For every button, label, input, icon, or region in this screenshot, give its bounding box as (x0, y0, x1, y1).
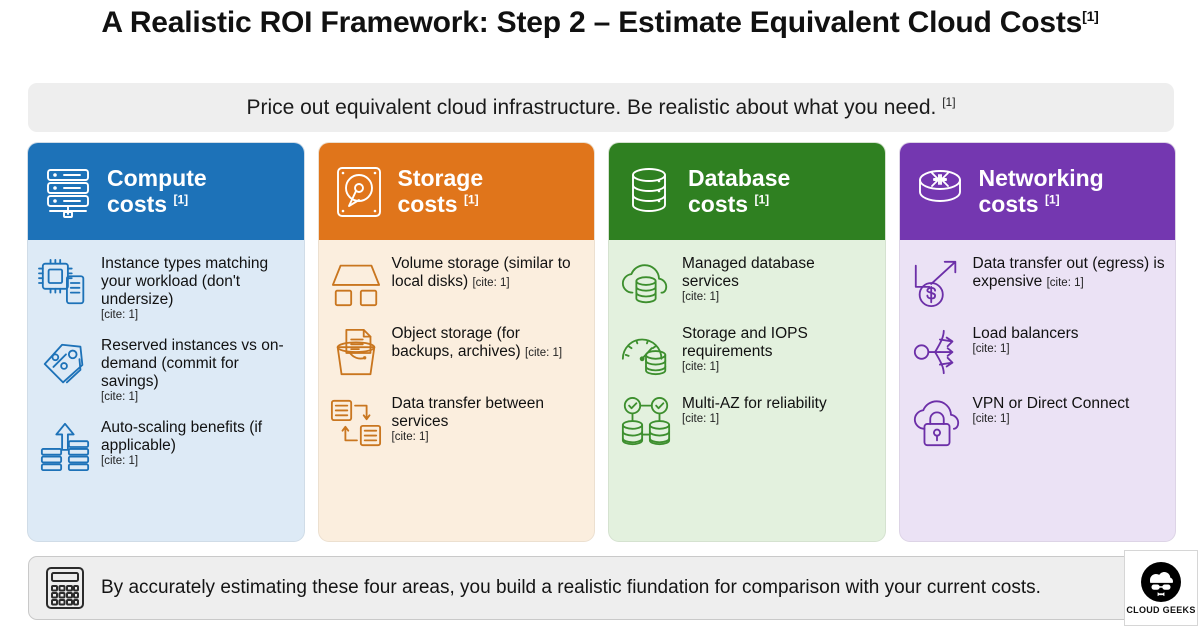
cost-item-citation: [cite: 1] (1047, 277, 1084, 289)
egress-cost-icon (910, 256, 964, 310)
cost-item-label: Managed database services (682, 255, 815, 290)
cost-card-title-line1: Compute (107, 165, 207, 191)
cost-item-label: Auto-scaling benefits (if applicable) (101, 419, 262, 454)
data-transfer-icon (329, 396, 383, 450)
cost-item[interactable]: Data transfer between services[cite: 1] (329, 394, 585, 450)
cloud-geeks-mark-icon (1140, 561, 1182, 603)
object-bucket-icon (329, 326, 383, 380)
cost-card-title-storage: Storagecosts [1] (398, 166, 484, 218)
server-rack-icon (40, 164, 96, 220)
cost-item-text: Auto-scaling benefits (if applicable)[ci… (101, 418, 294, 468)
cost-item-citation: [cite: 1] (682, 361, 875, 374)
cost-item-citation: [cite: 1] (525, 347, 562, 359)
managed-database-cloud-icon (619, 256, 673, 310)
page-title: A Realistic ROI Framework: Step 2 – Esti… (0, 6, 1200, 40)
subtitle-citation: [1] (942, 95, 955, 109)
cost-item-citation: [cite: 1] (101, 455, 294, 468)
cost-item-text: VPN or Direct Connect[cite: 1] (973, 394, 1130, 426)
cost-item-text: Reserved instances vs on-demand (commit … (101, 336, 294, 404)
cost-card-title-database: Databasecosts [1] (688, 166, 790, 218)
database-cylinder-icon (621, 164, 677, 220)
cost-card-title-compute: Computecosts [1] (107, 166, 207, 218)
cost-item-label: Load balancers (973, 325, 1079, 342)
cost-card-title-citation: [1] (173, 192, 188, 206)
cost-card-header-compute: Computecosts [1] (28, 143, 304, 240)
auto-scaling-icon (38, 420, 92, 474)
cpu-chip-icon (38, 256, 92, 310)
cost-item-text: Instance types matching your workload (d… (101, 254, 294, 322)
cost-item[interactable]: Object storage (for backups, archives) [… (329, 324, 585, 380)
cost-card-body-storage: Volume storage (similar to local disks) … (319, 240, 595, 541)
cost-item[interactable]: Load balancers[cite: 1] (910, 324, 1166, 380)
cost-item[interactable]: Managed database services[cite: 1] (619, 254, 875, 310)
subtitle-text: Price out equivalent cloud infrastructur… (246, 95, 955, 120)
cost-item-text: Data transfer out (egress) is expensive … (973, 254, 1166, 291)
cost-item-label: Storage and IOPS requirements (682, 325, 808, 360)
cost-card-storage[interactable]: Storagecosts [1]Volume storage (similar … (318, 142, 596, 542)
cost-card-title-line1: Database (688, 165, 790, 191)
cost-card-title-line1: Storage (398, 165, 484, 191)
discount-tag-icon (38, 338, 92, 392)
cost-card-header-storage: Storagecosts [1] (319, 143, 595, 240)
cloud-geeks-logo-label: CLOUD GEEKS (1126, 605, 1195, 615)
cost-item[interactable]: Instance types matching your workload (d… (38, 254, 294, 322)
calculator-icon (43, 565, 87, 611)
cost-card-title-line2: costs (398, 191, 458, 217)
cost-card-body-networking: Data transfer out (egress) is expensive … (900, 240, 1176, 541)
cost-item-citation: [cite: 1] (973, 343, 1079, 356)
cost-card-title-citation: [1] (464, 192, 479, 206)
cost-card-title-networking: Networkingcosts [1] (979, 166, 1104, 218)
cost-item[interactable]: Volume storage (similar to local disks) … (329, 254, 585, 310)
cost-item-text: Load balancers[cite: 1] (973, 324, 1079, 356)
cost-item[interactable]: Multi-AZ for reliability[cite: 1] (619, 394, 875, 450)
cost-item-text: Volume storage (similar to local disks) … (392, 254, 585, 291)
cost-category-columns: Computecosts [1]Instance types matching … (27, 142, 1176, 542)
cost-item-text: Managed database services[cite: 1] (682, 254, 875, 304)
cost-item-citation: [cite: 1] (682, 413, 827, 426)
cost-item[interactable]: Reserved instances vs on-demand (commit … (38, 336, 294, 404)
cost-card-body-database: Managed database services[cite: 1]Storag… (609, 240, 885, 541)
cost-item[interactable]: VPN or Direct Connect[cite: 1] (910, 394, 1166, 450)
cost-card-title-line2: costs (688, 191, 748, 217)
page-title-citation: [1] (1082, 8, 1099, 24)
cost-card-title-citation: [1] (754, 192, 769, 206)
cost-card-database[interactable]: Databasecosts [1]Managed database servic… (608, 142, 886, 542)
cost-card-title-line2: costs (979, 191, 1039, 217)
cost-item-citation: [cite: 1] (472, 277, 509, 289)
cost-card-header-database: Databasecosts [1] (609, 143, 885, 240)
infographic-page: A Realistic ROI Framework: Step 2 – Esti… (0, 0, 1200, 630)
cost-card-title-citation: [1] (1045, 192, 1060, 206)
cost-item-label: Data transfer between services (392, 395, 545, 430)
subtitle-band: Price out equivalent cloud infrastructur… (28, 83, 1174, 132)
vpn-lock-cloud-icon (910, 396, 964, 450)
cost-item-citation: [cite: 1] (973, 413, 1130, 426)
hard-disk-icon (331, 164, 387, 220)
cost-item-label: Reserved instances vs on-demand (commit … (101, 337, 284, 390)
cost-card-body-compute: Instance types matching your workload (d… (28, 240, 304, 541)
volume-storage-icon (329, 256, 383, 310)
cost-item-label: Multi-AZ for reliability (682, 395, 827, 412)
cost-item-label: VPN or Direct Connect (973, 395, 1130, 412)
subtitle-label: Price out equivalent cloud infrastructur… (246, 96, 936, 119)
cost-card-compute[interactable]: Computecosts [1]Instance types matching … (27, 142, 305, 542)
cost-item-text: Object storage (for backups, archives) [… (392, 324, 585, 361)
cost-item[interactable]: Storage and IOPS requirements[cite: 1] (619, 324, 875, 380)
cost-item-text: Data transfer between services[cite: 1] (392, 394, 585, 444)
cost-item-label: Instance types matching your workload (d… (101, 255, 268, 308)
cost-card-title-line1: Networking (979, 165, 1104, 191)
cost-item-label: Object storage (for backups, archives) (392, 325, 521, 360)
gauge-database-icon (619, 326, 673, 380)
cost-item[interactable]: Auto-scaling benefits (if applicable)[ci… (38, 418, 294, 474)
cost-item-citation: [cite: 1] (101, 391, 294, 404)
cost-card-networking[interactable]: Networkingcosts [1]Data transfer out (eg… (899, 142, 1177, 542)
cost-item[interactable]: Data transfer out (egress) is expensive … (910, 254, 1166, 310)
load-balancer-icon (910, 326, 964, 380)
cost-item-citation: [cite: 1] (101, 309, 294, 322)
page-title-text: A Realistic ROI Framework: Step 2 – Esti… (101, 6, 1082, 39)
footer-summary-bar: By accurately estimating these four area… (28, 556, 1174, 620)
cost-card-title-line2: costs (107, 191, 167, 217)
cost-card-header-networking: Networkingcosts [1] (900, 143, 1176, 240)
cost-item-citation: [cite: 1] (392, 431, 585, 444)
multi-az-icon (619, 396, 673, 450)
cost-item-text: Storage and IOPS requirements[cite: 1] (682, 324, 875, 374)
cost-item-text: Multi-AZ for reliability[cite: 1] (682, 394, 827, 426)
footer-text: By accurately estimating these four area… (101, 577, 1041, 599)
cloud-geeks-logo: CLOUD GEEKS (1124, 550, 1198, 626)
cost-item-citation: [cite: 1] (682, 291, 875, 304)
router-icon (912, 164, 968, 220)
